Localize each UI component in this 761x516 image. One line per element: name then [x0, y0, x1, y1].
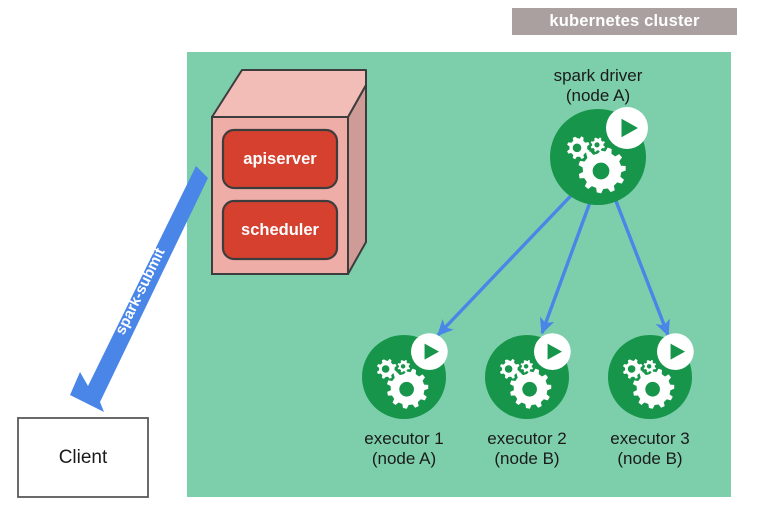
executor-1-subtitle: (node A) — [339, 449, 469, 469]
spark-driver-title: spark driver — [528, 66, 668, 86]
spark-driver-subtitle: (node A) — [528, 86, 668, 106]
apiserver-label: apiserver — [223, 150, 337, 169]
scheduler-label: scheduler — [223, 221, 337, 240]
kubernetes-cluster-banner-label: kubernetes cluster — [512, 12, 737, 31]
executor-3-title: executor 3 — [585, 429, 715, 449]
executor-3-subtitle: (node B) — [585, 449, 715, 469]
client-label: Client — [18, 447, 148, 469]
executor-2-title: executor 2 — [462, 429, 592, 449]
diagram-canvas: kubernetes cluster apiserver scheduler s… — [0, 0, 761, 516]
executor-1-title: executor 1 — [339, 429, 469, 449]
executor-2-subtitle: (node B) — [462, 449, 592, 469]
